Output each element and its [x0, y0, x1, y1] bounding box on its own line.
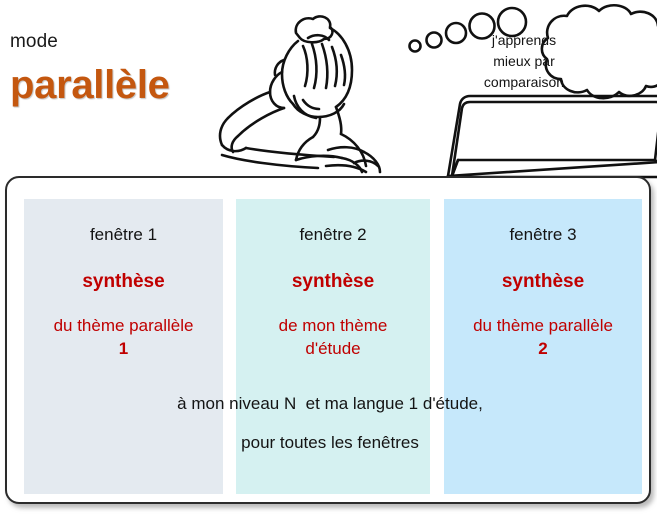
- synthesis-label-1: synthèse: [24, 271, 223, 294]
- thought-bubble-line-1: j'apprends: [454, 30, 594, 51]
- thought-bubble-line-3: comparaison: [454, 72, 594, 93]
- synthesis-label-2: synthèse: [236, 271, 430, 294]
- window-label-3: fenêtre 3: [444, 225, 642, 245]
- synthesis-label-3: synthèse: [444, 271, 642, 294]
- hair-bun-icon: [296, 16, 333, 42]
- window-panel-1[interactable]: fenêtre 1 synthèse du thème parallèle 1: [24, 199, 223, 494]
- theme-text-3: du thème parallèle: [444, 315, 642, 337]
- window-label-2: fenêtre 2: [236, 225, 430, 245]
- thought-bubble-line-2: mieux par: [454, 51, 594, 72]
- theme-text-2: de mon thème d'étude: [236, 315, 430, 360]
- mode-label: mode: [10, 32, 225, 53]
- page-title: parallèle: [10, 62, 225, 108]
- theme-text-1: du thème parallèle: [24, 315, 223, 337]
- window-panel-3[interactable]: fenêtre 3 synthèse du thème parallèle 2: [444, 199, 642, 494]
- theme-number-1: 1: [24, 338, 223, 360]
- laptop-icon: [447, 96, 657, 178]
- thought-dot-2: [427, 33, 442, 48]
- windows-container: fenêtre 1 synthèse du thème parallèle 1 …: [5, 176, 651, 504]
- window-panel-2[interactable]: fenêtre 2 synthèse de mon thème d'étude: [236, 199, 430, 494]
- theme-number-3: 2: [444, 338, 642, 360]
- thought-bubble-text: j'apprends mieux par comparaison: [454, 30, 594, 93]
- thought-dot-1: [410, 41, 421, 52]
- person-studying-illustration: j'apprends mieux par comparaison: [208, 0, 657, 185]
- header-block: mode parallèle: [10, 32, 225, 108]
- face-icon: [294, 96, 319, 118]
- window-label-1: fenêtre 1: [24, 225, 223, 245]
